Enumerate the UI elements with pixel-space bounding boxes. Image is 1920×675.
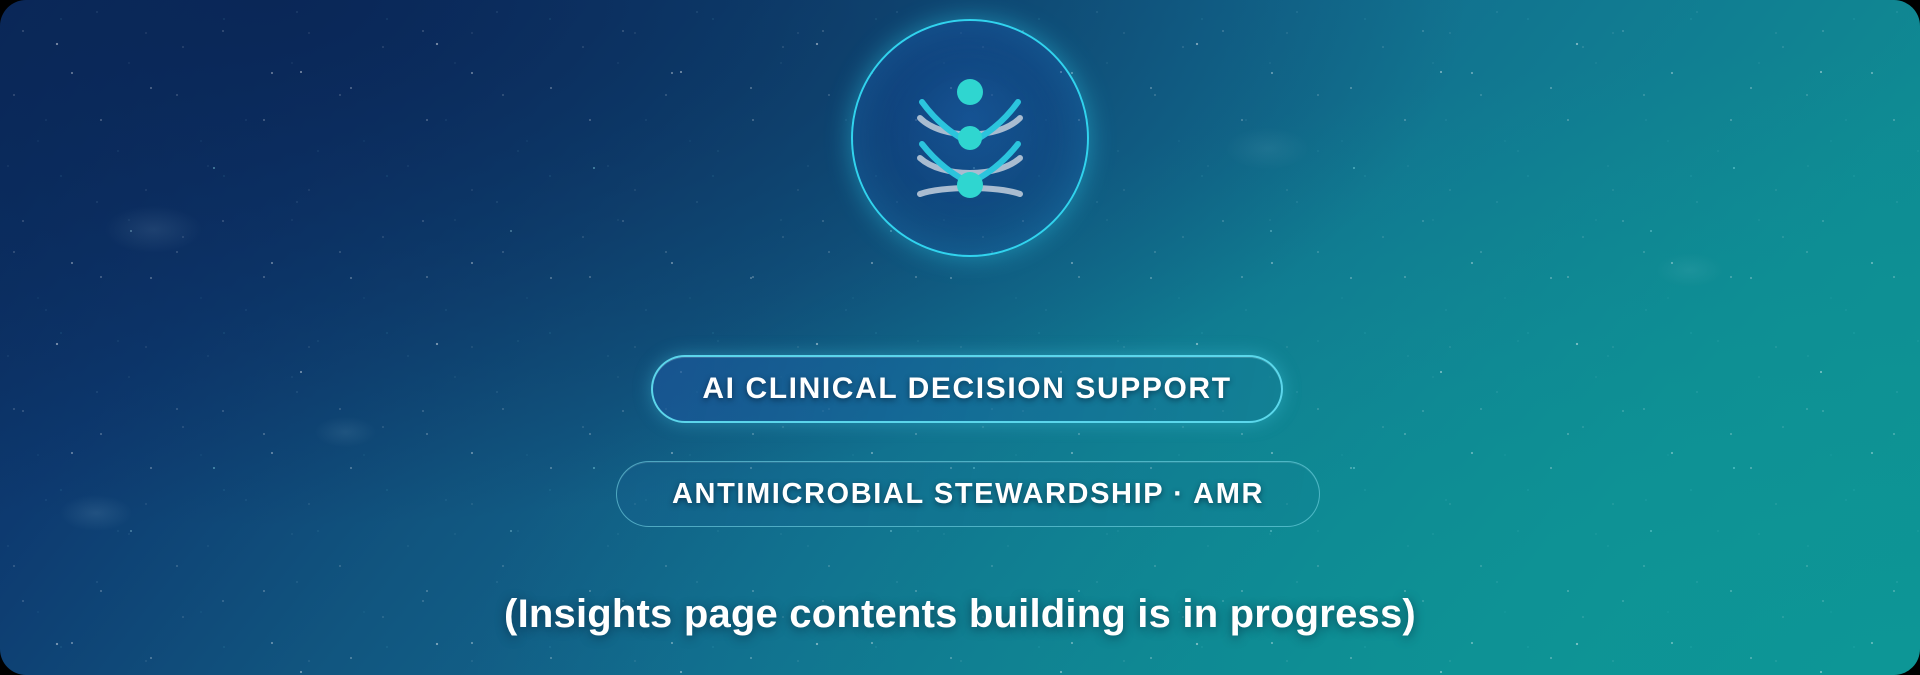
brand-logo-badge xyxy=(851,19,1089,257)
page-status-caption: (Insights page contents building is in p… xyxy=(0,592,1920,637)
pill-ai-clinical-decision-support[interactable]: AI CLINICAL DECISION SUPPORT xyxy=(651,355,1283,423)
pill-antimicrobial-stewardship-amr[interactable]: ANTIMICROBIAL STEWARDSHIP · AMR xyxy=(616,461,1320,527)
insights-hero-banner: AI CLINICAL DECISION SUPPORT ANTIMICROBI… xyxy=(0,0,1920,675)
three-figures-logo-icon xyxy=(916,74,1024,202)
